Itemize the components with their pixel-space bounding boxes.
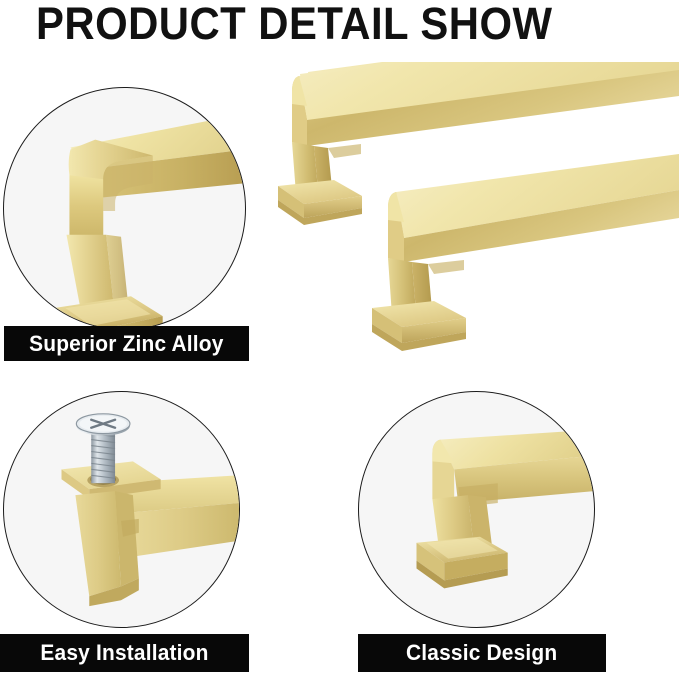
caption-label-classic-design: Classic Design	[406, 640, 557, 666]
squared-end-profile-art	[359, 392, 594, 627]
detail-circle-superior-zinc-alloy	[3, 87, 246, 330]
detail-circle-easy-installation	[3, 391, 240, 628]
caption-label-superior-zinc-alloy: Superior Zinc Alloy	[29, 331, 223, 357]
caption-bar-classic-design: Classic Design	[358, 634, 606, 672]
caption-label-easy-installation: Easy Installation	[40, 640, 208, 666]
detail-circle-classic-design	[358, 391, 595, 628]
caption-bar-superior-zinc-alloy: Superior Zinc Alloy	[4, 326, 249, 361]
pull-with-mounting-screw-art	[4, 392, 239, 627]
product-hero-photo	[256, 62, 679, 380]
product-detail-page: PRODUCT DETAIL SHOW	[0, 0, 679, 675]
cabinet-pull-end-closeup-art	[4, 88, 245, 329]
two-gold-cabinet-pull-bars-art	[256, 62, 679, 380]
caption-bar-easy-installation: Easy Installation	[0, 634, 249, 672]
page-title: PRODUCT DETAIL SHOW	[36, 0, 603, 51]
